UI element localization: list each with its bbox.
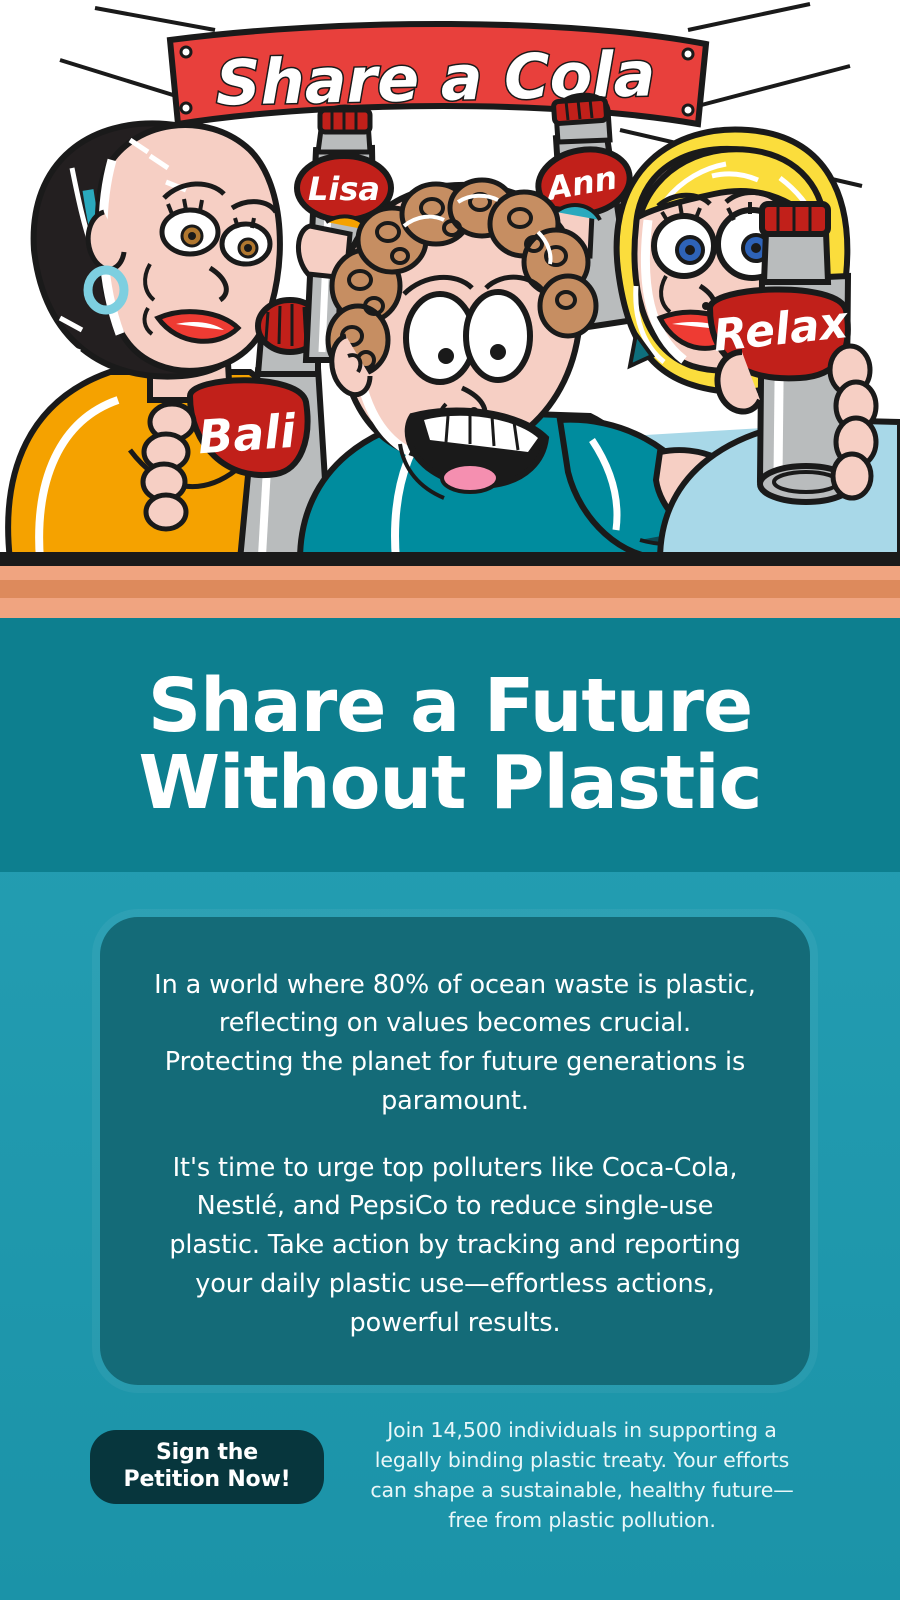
poster-root: Share a Cola <box>0 0 900 1600</box>
body-paragraph-1: In a world where 80% of ocean waste is p… <box>154 966 756 1121</box>
page-title: Share a Future Without Plastic <box>99 670 802 819</box>
sign-button-line-2: Petition Now! <box>124 1467 291 1494</box>
cta-row: Sign the Petition Now! Join 14,500 indiv… <box>0 1415 900 1580</box>
table-edge-light-upper <box>0 566 900 580</box>
table-edge-light-lower <box>0 598 900 618</box>
headline-band: Share a Future Without Plastic <box>0 618 900 872</box>
headline-line-2: Without Plastic <box>139 747 762 820</box>
table-edge-strip <box>0 562 900 618</box>
hero-illustration: Share a Cola <box>0 0 900 562</box>
body-copy-card: In a world where 80% of ocean waste is p… <box>100 917 810 1385</box>
sign-button-line-1: Sign the <box>156 1440 258 1467</box>
headline-line-1: Share a Future <box>139 670 762 743</box>
table-edge-mid <box>0 580 900 598</box>
cta-supporting-text: Join 14,500 individuals in supporting a … <box>358 1415 806 1536</box>
body-paragraph-2: It's time to urge top polluters like Coc… <box>154 1149 756 1343</box>
banner-shape: Share a Cola <box>170 24 706 124</box>
bottle-label-lisa: Lisa <box>308 170 380 208</box>
bottle-label-bali: Bali <box>196 404 298 465</box>
sign-petition-button[interactable]: Sign the Petition Now! <box>90 1430 324 1504</box>
